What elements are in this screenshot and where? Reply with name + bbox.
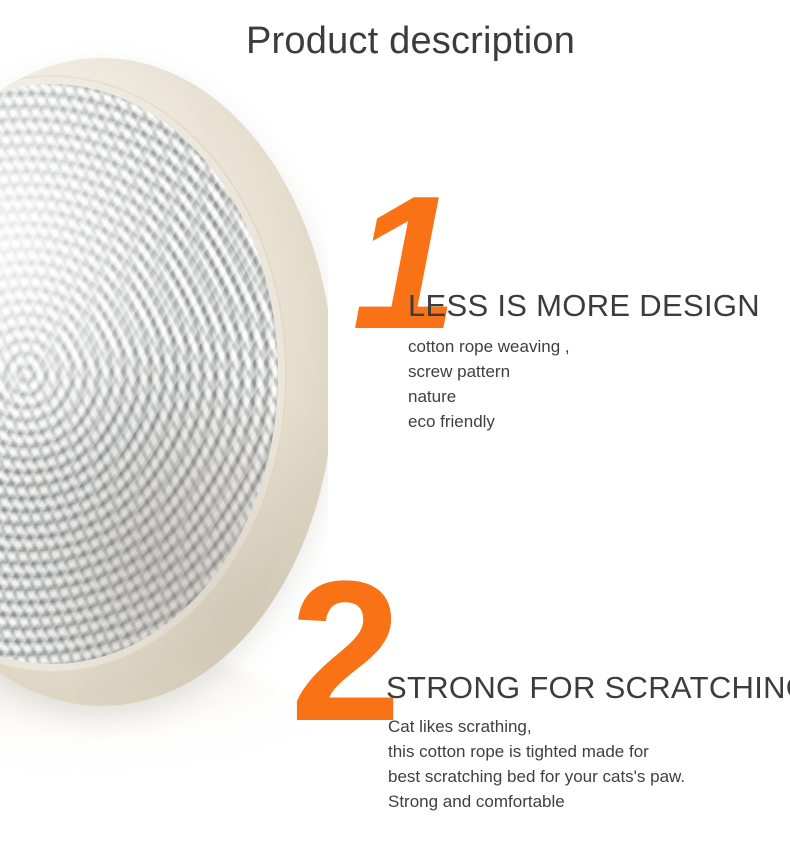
feature-number-1: 1 [352,168,452,358]
feature-heading-1: LESS IS MORE DESIGN [408,288,760,324]
rope-weave-area [0,84,278,664]
feature-1-line-4: eco friendly [408,409,570,434]
feature-heading-2: STRONG FOR SCRATCHING [386,670,790,706]
feature-1-line-2: screw pattern [408,359,570,384]
feature-number-2: 2 [290,552,395,752]
feature-1-line-1: cotton rope weaving , [408,334,570,359]
feature-1-line-3: nature [408,384,570,409]
feature-body-2: Cat likes scrathing, this cotton rope is… [388,714,685,814]
feature-2-line-2: this cotton rope is tighted made for [388,739,685,764]
product-description-page: Product description 1 LESS IS MORE DESIG… [0,0,790,857]
rope-twist-highlight [0,84,278,664]
rope-basket [0,58,334,706]
feature-2-line-1: Cat likes scrathing, [388,714,685,739]
feature-2-line-3: best scratching bed for your cats's paw. [388,764,685,789]
feature-2-line-4: Strong and comfortable [388,789,685,814]
page-title: Product description [246,20,575,63]
feature-body-1: cotton rope weaving , screw pattern natu… [408,334,570,434]
